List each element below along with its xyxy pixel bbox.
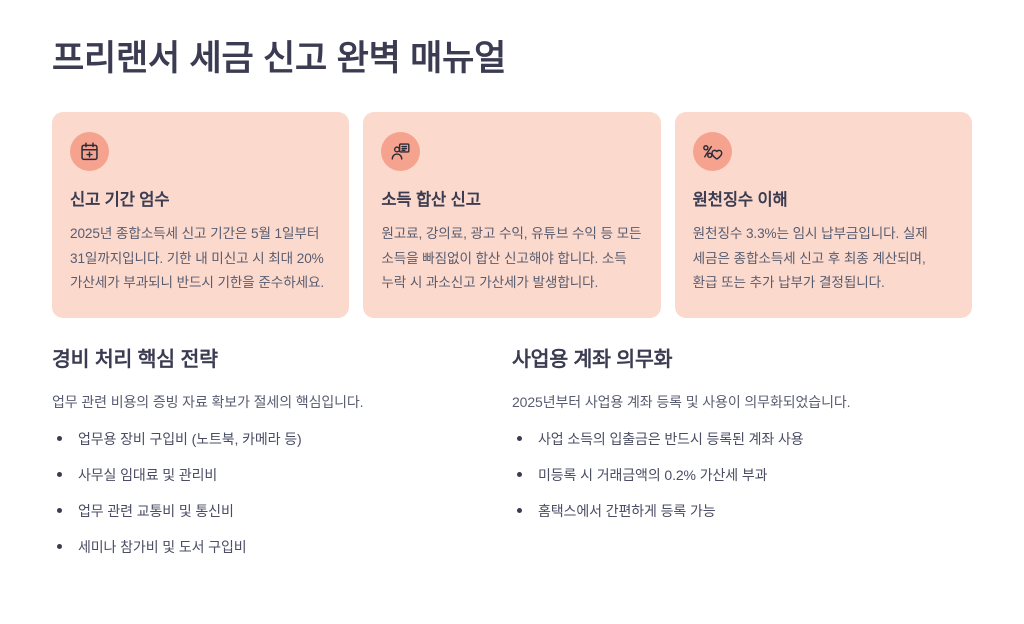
list-item: 업무용 장비 구입비 (노트북, 카메라 등) (52, 429, 512, 449)
highlight-card-body: 원고료, 강의료, 광고 수익, 유튜브 수익 등 모든 소득을 빠짐없이 합산… (381, 222, 642, 296)
highlight-card-title: 신고 기간 엄수 (70, 189, 331, 211)
list-item: 업무 관련 교통비 및 통신비 (52, 501, 512, 521)
section-intro: 2025년부터 사업용 계좌 등록 및 사용이 의무화되었습니다. (512, 391, 972, 413)
list-item-label: 업무용 장비 구입비 (노트북, 카메라 등) (78, 431, 302, 447)
highlight-card-title: 원천징수 이해 (693, 189, 954, 211)
list-item: 홈택스에서 간편하게 등록 가능 (512, 501, 972, 521)
highlight-card-body: 원천징수 3.3%는 임시 납부금입니다. 실제 세금은 종합소득세 신고 후 … (693, 222, 954, 296)
percent-heart-icon (693, 132, 732, 171)
list-item-label: 세미나 참가비 및 도서 구입비 (78, 539, 247, 555)
bullet-dot-icon (517, 436, 522, 441)
bullet-dot-icon (57, 436, 62, 441)
highlight-card-deadline: 신고 기간 엄수 2025년 종합소득세 신고 기간은 5월 1일부터 31일까… (52, 112, 349, 318)
calendar-plus-icon (70, 132, 109, 171)
bullet-dot-icon (517, 508, 522, 513)
highlight-card-title: 소득 합산 신고 (381, 189, 642, 211)
section-bullet-list: 업무용 장비 구입비 (노트북, 카메라 등) 사무실 임대료 및 관리비 업무… (52, 429, 512, 557)
section-expense-strategy: 경비 처리 핵심 전략 업무 관련 비용의 증빙 자료 확보가 절세의 핵심입니… (52, 346, 512, 557)
detail-section-row: 경비 처리 핵심 전략 업무 관련 비용의 증빙 자료 확보가 절세의 핵심입니… (52, 346, 972, 557)
highlight-card-withholding-tax: 원천징수 이해 원천징수 3.3%는 임시 납부금입니다. 실제 세금은 종합소… (675, 112, 972, 318)
list-item-label: 미등록 시 거래금액의 0.2% 가산세 부과 (538, 467, 767, 483)
highlight-card-row: 신고 기간 엄수 2025년 종합소득세 신고 기간은 5월 1일부터 31일까… (52, 112, 972, 318)
section-intro: 업무 관련 비용의 증빙 자료 확보가 절세의 핵심입니다. (52, 391, 512, 413)
bullet-dot-icon (517, 472, 522, 477)
bullet-dot-icon (57, 544, 62, 549)
list-item: 사업 소득의 입출금은 반드시 등록된 계좌 사용 (512, 429, 972, 449)
list-item-label: 홈택스에서 간편하게 등록 가능 (538, 503, 716, 519)
section-business-account: 사업용 계좌 의무화 2025년부터 사업용 계좌 등록 및 사용이 의무화되었… (512, 346, 972, 557)
user-document-icon (381, 132, 420, 171)
list-item-label: 업무 관련 교통비 및 통신비 (78, 503, 234, 519)
page-title: 프리랜서 세금 신고 완벽 매뉴얼 (52, 0, 972, 82)
page-root: 프리랜서 세금 신고 완벽 매뉴얼 신고 기간 엄수 2025년 종합소득세 신… (0, 0, 1024, 624)
highlight-card-income-aggregation: 소득 합산 신고 원고료, 강의료, 광고 수익, 유튜브 수익 등 모든 소득… (363, 112, 660, 318)
list-item: 세미나 참가비 및 도서 구입비 (52, 537, 512, 557)
list-item: 사무실 임대료 및 관리비 (52, 465, 512, 485)
section-title: 경비 처리 핵심 전략 (52, 346, 512, 374)
list-item-label: 사업 소득의 입출금은 반드시 등록된 계좌 사용 (538, 431, 804, 447)
section-bullet-list: 사업 소득의 입출금은 반드시 등록된 계좌 사용 미등록 시 거래금액의 0.… (512, 429, 972, 521)
highlight-card-body: 2025년 종합소득세 신고 기간은 5월 1일부터 31일까지입니다. 기한 … (70, 222, 331, 296)
list-item: 미등록 시 거래금액의 0.2% 가산세 부과 (512, 465, 972, 485)
section-title: 사업용 계좌 의무화 (512, 346, 972, 374)
bullet-dot-icon (57, 508, 62, 513)
list-item-label: 사무실 임대료 및 관리비 (78, 467, 217, 483)
bullet-dot-icon (57, 472, 62, 477)
